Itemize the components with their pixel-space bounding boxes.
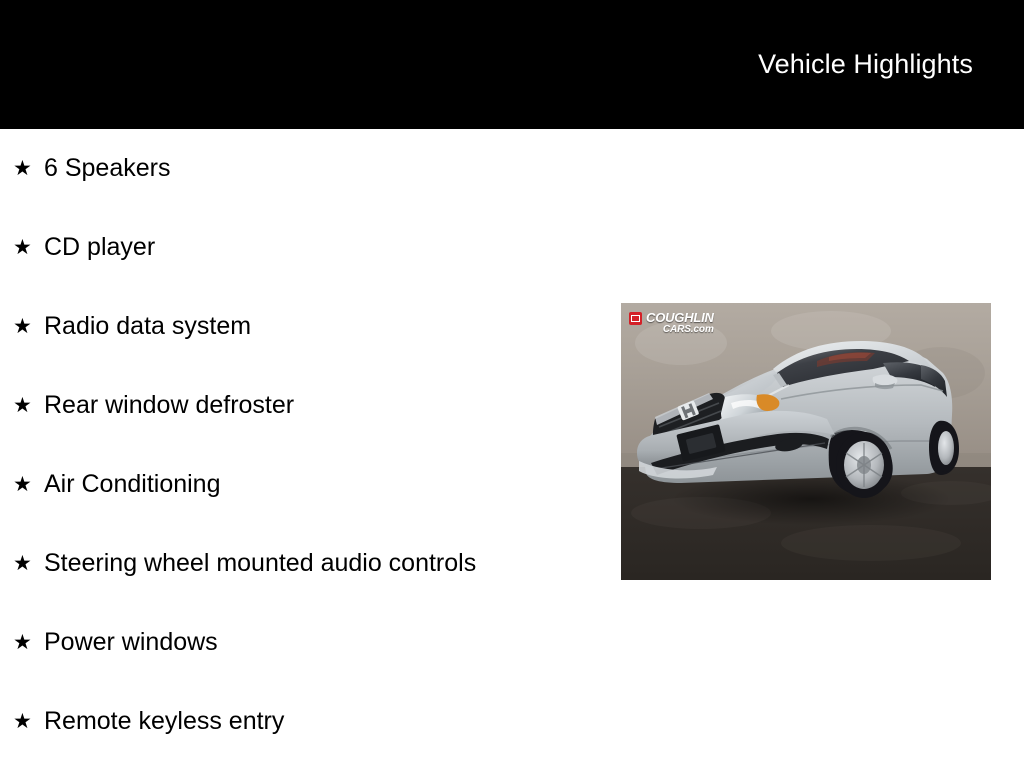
highlight-label: Power windows — [44, 630, 218, 655]
list-item: ★ Rear window defroster — [0, 366, 620, 445]
highlight-label: CD player — [44, 235, 155, 260]
rear-wheel — [938, 431, 954, 465]
star-icon: ★ — [13, 553, 44, 574]
list-item: ★ Air Conditioning — [0, 445, 620, 524]
star-icon: ★ — [13, 316, 44, 337]
highlight-label: Remote keyless entry — [44, 709, 284, 734]
list-item: ★ Radio data system — [0, 287, 620, 366]
page-header: Vehicle Highlights — [0, 0, 1024, 129]
highlight-label: Radio data system — [44, 314, 251, 339]
list-item: ★ CD player — [0, 208, 620, 287]
star-icon: ★ — [13, 158, 44, 179]
list-item: ★ Power windows — [0, 603, 620, 682]
vehicle-photo: COUGHLIN CARS.com — [621, 303, 991, 580]
list-item: ★ 6 Speakers — [0, 129, 620, 208]
star-icon: ★ — [13, 237, 44, 258]
list-item: ★ Remote keyless entry — [0, 682, 620, 761]
highlight-label: Steering wheel mounted audio controls — [44, 551, 476, 576]
star-icon: ★ — [13, 395, 44, 416]
star-icon: ★ — [13, 711, 44, 732]
highlight-label: Rear window defroster — [44, 393, 294, 418]
vehicle-photo-image — [621, 303, 991, 580]
highlight-label: Air Conditioning — [44, 472, 221, 497]
star-icon: ★ — [13, 632, 44, 653]
list-item: ★ Steering wheel mounted audio controls — [0, 524, 620, 603]
highlight-label: 6 Speakers — [44, 156, 170, 181]
page-title: Vehicle Highlights — [758, 51, 973, 78]
vehicle-highlights-list: ★ 6 Speakers ★ CD player ★ Radio data sy… — [0, 129, 620, 761]
star-icon: ★ — [13, 474, 44, 495]
